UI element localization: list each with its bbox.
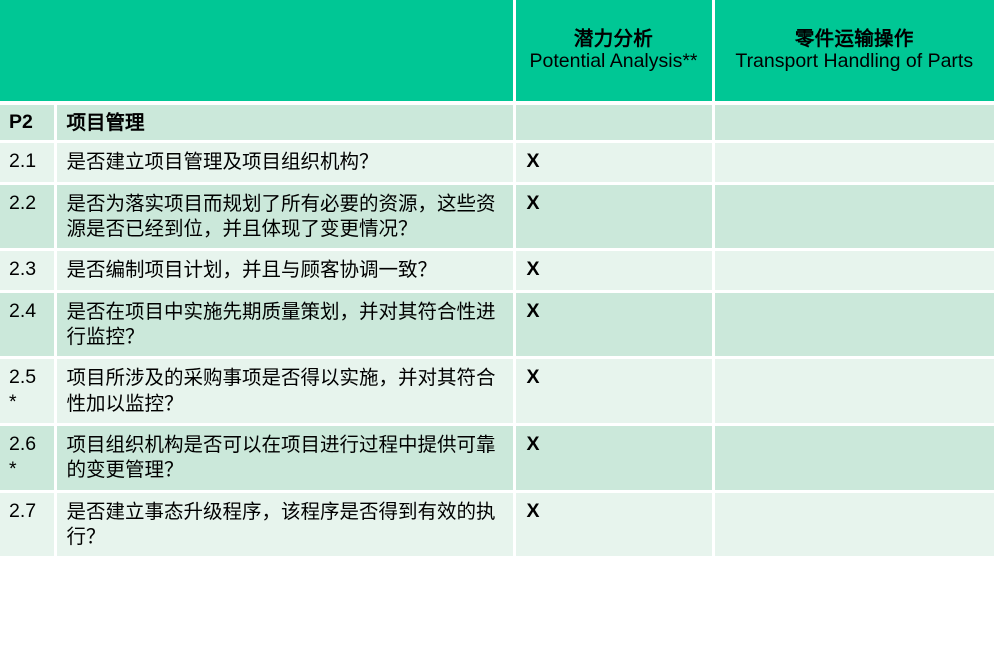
row-mark-transport-handling	[713, 142, 994, 183]
row-question-text: 是否建立事态升级程序，该程序是否得到有效的执行？	[55, 491, 514, 558]
table-row-2-4: 2.4 是否在项目中实施先期质量策划，并对其符合性进行监控？ X	[0, 291, 994, 358]
row-question-text: 是否为落实项目而规划了所有必要的资源，这些资源是否已经到位，并且体现了变更情况？	[55, 183, 514, 250]
table-row-2-3: 2.3 是否编制项目计划，并且与顾客协调一致？ X	[0, 250, 994, 291]
table-row-2-5: 2.5 * 项目所涉及的采购事项是否得以实施，并对其符合性加以监控？ X	[0, 358, 994, 425]
row-mark-transport-handling	[713, 425, 994, 492]
header-cell-potential-analysis: 潜力分析 Potential Analysis**	[514, 0, 713, 103]
row-mark-potential-analysis: X	[514, 358, 713, 425]
header-potential-analysis-cn: 潜力分析	[522, 27, 706, 50]
matrix-header: 潜力分析 Potential Analysis** 零件运输操作 Transpo…	[0, 0, 994, 103]
row-mark-potential-analysis: X	[514, 142, 713, 183]
row-number: 2.5 *	[0, 358, 55, 425]
row-question-text: 是否在项目中实施先期质量策划，并对其符合性进行监控？	[55, 291, 514, 358]
header-transport-handling-en: Transport Handling of Parts	[721, 50, 989, 74]
row-mark-transport-handling	[713, 358, 994, 425]
row-mark-potential-analysis	[514, 103, 713, 142]
row-number: 2.2	[0, 183, 55, 250]
row-number: 2.4	[0, 291, 55, 358]
table-row-2-2: 2.2 是否为落实项目而规划了所有必要的资源，这些资源是否已经到位，并且体现了变…	[0, 183, 994, 250]
row-number: 2.1	[0, 142, 55, 183]
row-mark-transport-handling	[713, 491, 994, 558]
table-row-2-7: 2.7 是否建立事态升级程序，该程序是否得到有效的执行？ X	[0, 491, 994, 558]
table-row-2-6: 2.6 * 项目组织机构是否可以在项目进行过程中提供可靠的变更管理？ X	[0, 425, 994, 492]
header-row: 潜力分析 Potential Analysis** 零件运输操作 Transpo…	[0, 0, 994, 103]
row-mark-potential-analysis: X	[514, 425, 713, 492]
audit-question-matrix: 潜力分析 Potential Analysis** 零件运输操作 Transpo…	[0, 0, 994, 559]
row-mark-potential-analysis: X	[514, 291, 713, 358]
row-mark-transport-handling	[713, 103, 994, 142]
row-mark-potential-analysis: X	[514, 491, 713, 558]
matrix-body: P2 项目管理 2.1 是否建立项目管理及项目组织机构？ X 2.2 是否为落实…	[0, 103, 994, 558]
row-question-text: 是否建立项目管理及项目组织机构？	[55, 142, 514, 183]
row-question-text: 项目管理	[55, 103, 514, 142]
table-row-2-1: 2.1 是否建立项目管理及项目组织机构？ X	[0, 142, 994, 183]
row-number: P2	[0, 103, 55, 142]
header-transport-handling-cn: 零件运输操作	[721, 27, 989, 50]
header-potential-analysis-en: Potential Analysis**	[522, 50, 706, 74]
row-question-text: 项目组织机构是否可以在项目进行过程中提供可靠的变更管理？	[55, 425, 514, 492]
header-cell-number	[0, 0, 55, 103]
row-number: 2.6 *	[0, 425, 55, 492]
row-number: 2.3	[0, 250, 55, 291]
row-mark-potential-analysis: X	[514, 250, 713, 291]
row-mark-transport-handling	[713, 183, 994, 250]
header-cell-transport-handling: 零件运输操作 Transport Handling of Parts	[713, 0, 994, 103]
row-question-text: 是否编制项目计划，并且与顾客协调一致？	[55, 250, 514, 291]
row-mark-transport-handling	[713, 250, 994, 291]
header-cell-question	[55, 0, 514, 103]
row-number: 2.7	[0, 491, 55, 558]
row-mark-transport-handling	[713, 291, 994, 358]
table-row-section-p2: P2 项目管理	[0, 103, 994, 142]
row-question-text: 项目所涉及的采购事项是否得以实施，并对其符合性加以监控？	[55, 358, 514, 425]
row-mark-potential-analysis: X	[514, 183, 713, 250]
